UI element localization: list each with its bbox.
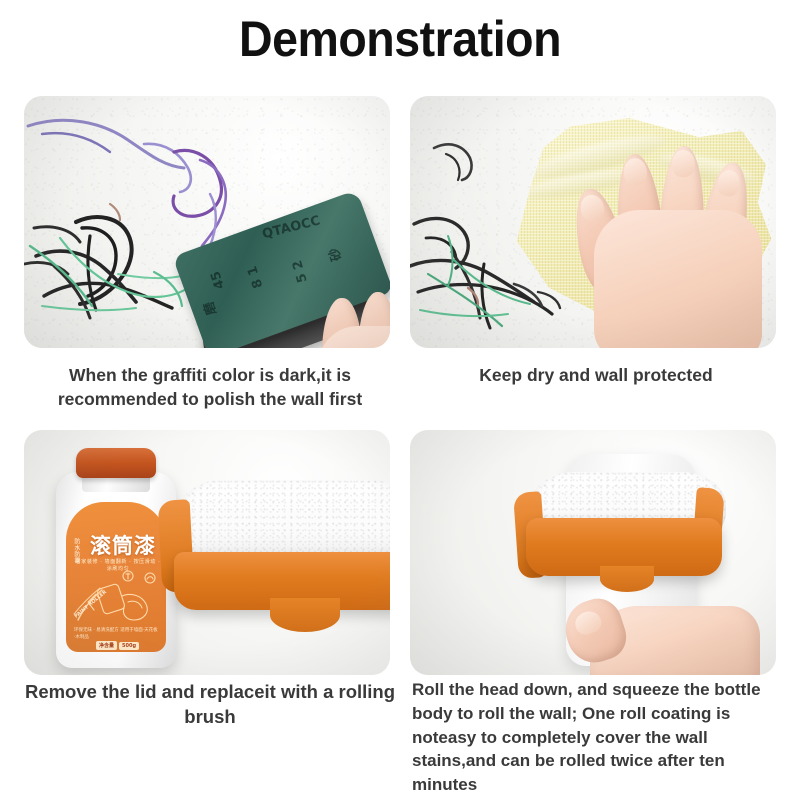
scene-wipe-dry bbox=[410, 96, 776, 348]
caption-polish-wall-step: When the graffiti color is dark,it is re… bbox=[24, 364, 396, 411]
caption-replace-lid-step: Remove the lid and replaceit with a roll… bbox=[24, 680, 396, 730]
scene-replace-lid: 防水防霉 滚筒漆 居家装修 · 墙面翻新 · 按压滑动 · 涂刷均匀 bbox=[24, 430, 390, 675]
panel-vignette bbox=[410, 430, 776, 675]
caption-wipe-dry-step: Keep dry and wall protected bbox=[410, 364, 782, 388]
panel-roll-wall-step bbox=[410, 430, 776, 675]
demonstration-infographic: Demonstration bbox=[0, 0, 800, 800]
panel-replace-lid-step: 防水防霉 滚筒漆 居家装修 · 墙面翻新 · 按压滑动 · 涂刷均匀 bbox=[24, 430, 390, 675]
caption-roll-wall-step: Roll the head down, and squeeze the bott… bbox=[412, 678, 792, 797]
panel-wipe-dry-step bbox=[410, 96, 776, 348]
scene-roll-wall bbox=[410, 430, 776, 675]
scene-polish-wall: QTAOCC 45 5 2 8 1 磨 砂 bbox=[24, 96, 390, 348]
panel-vignette bbox=[24, 96, 390, 348]
page-title: Demonstration bbox=[28, 10, 772, 68]
panel-vignette bbox=[24, 430, 390, 675]
panel-polish-wall-step: QTAOCC 45 5 2 8 1 磨 砂 bbox=[24, 96, 390, 348]
panel-vignette bbox=[410, 96, 776, 348]
